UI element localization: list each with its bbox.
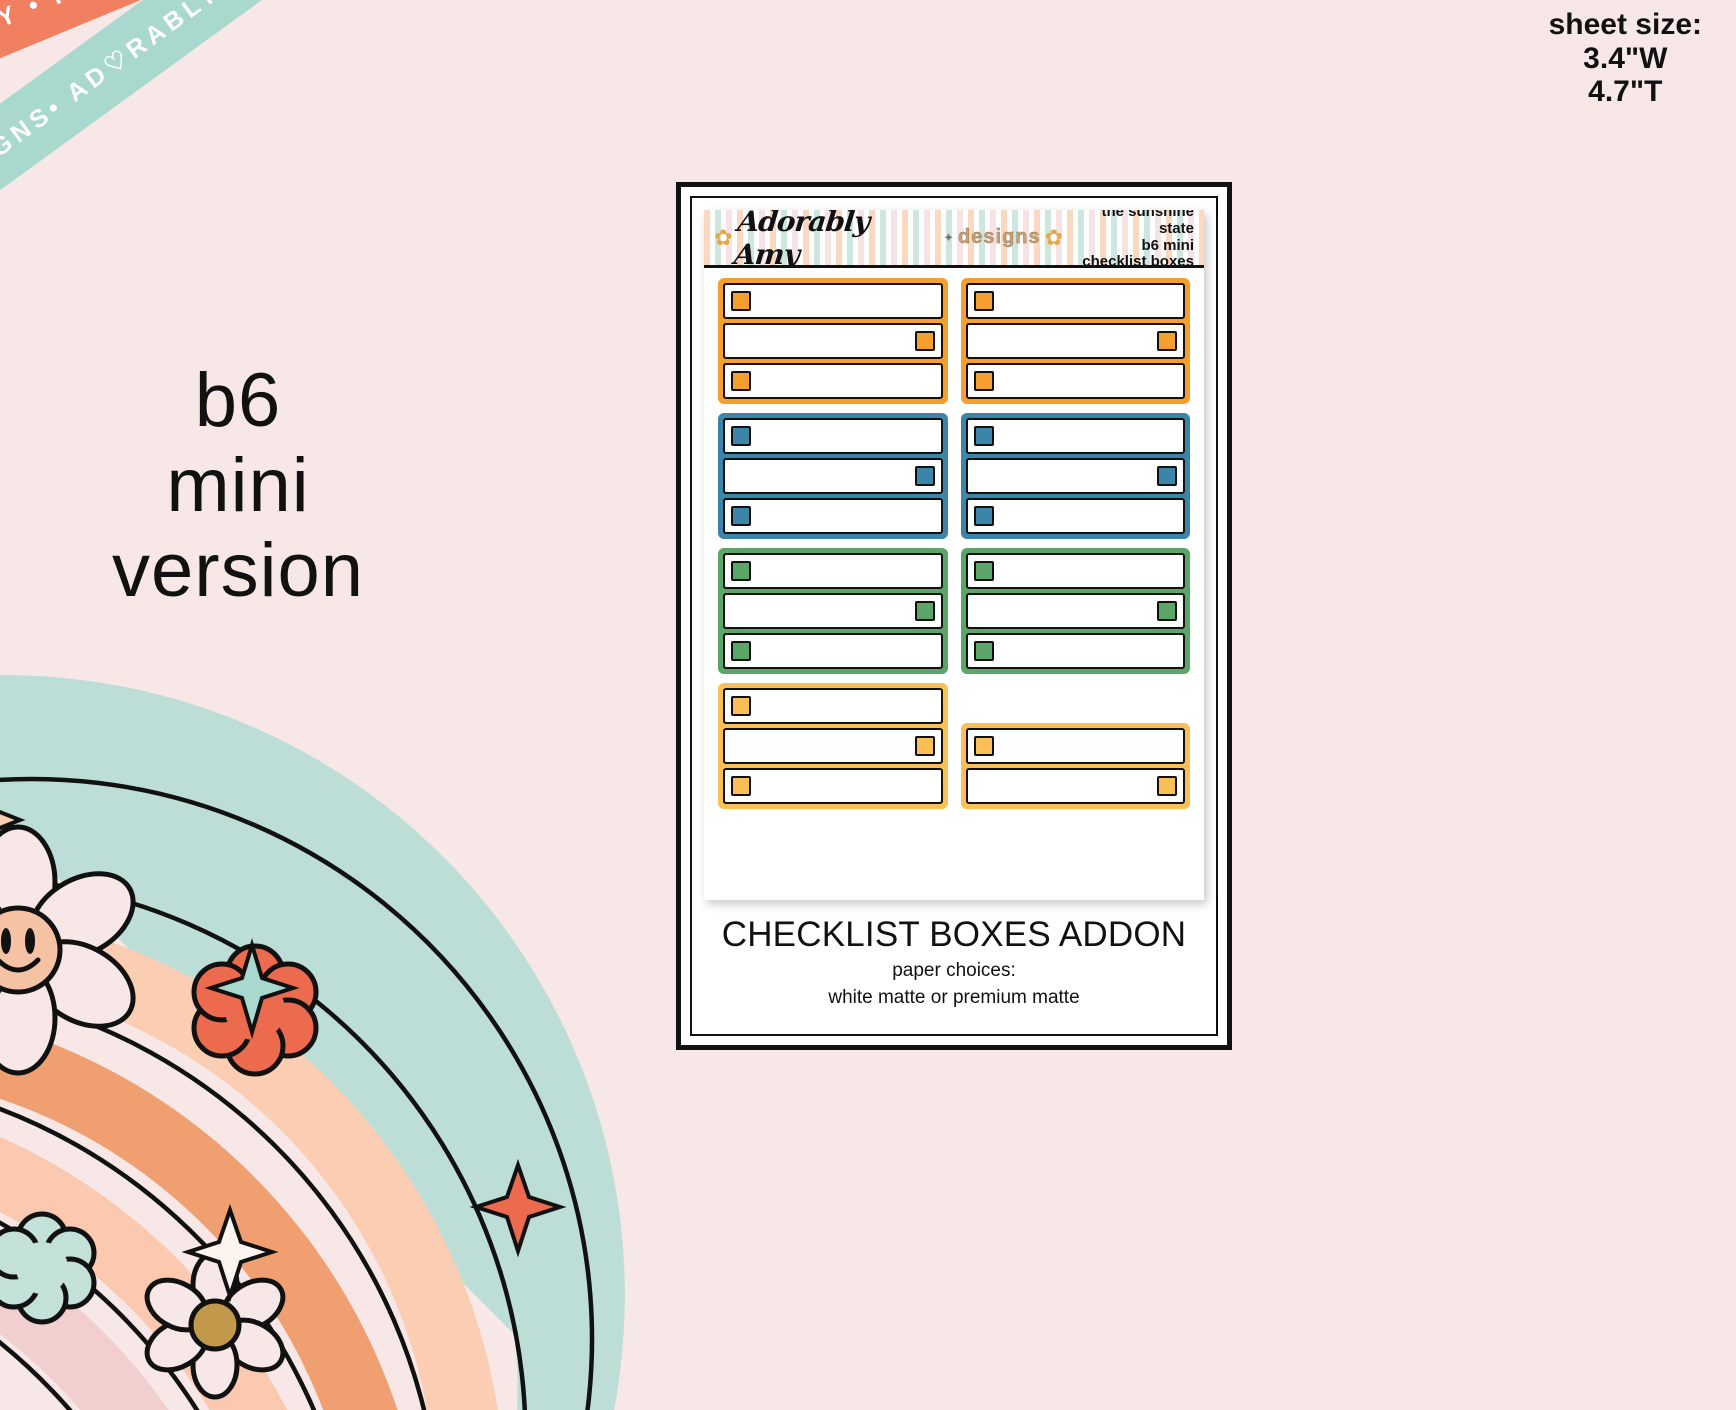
checkbox-icon[interactable] — [1157, 466, 1177, 486]
checklist-row[interactable] — [723, 633, 943, 669]
checklist-row[interactable] — [966, 633, 1186, 669]
sheet-size-width: 3.4"W — [1549, 42, 1702, 76]
caption-headline: CHECKLIST BOXES ADDON — [722, 916, 1187, 955]
checkbox-icon[interactable] — [731, 371, 751, 391]
sheet-title-line3: checklist boxes — [1063, 254, 1194, 268]
checklist-row[interactable] — [966, 283, 1186, 319]
checklist-sticker-blue-left[interactable] — [718, 413, 948, 539]
checklist-sticker-orange-right[interactable] — [961, 278, 1191, 404]
checkbox-icon[interactable] — [731, 776, 751, 796]
checkbox-icon[interactable] — [731, 291, 751, 311]
checklist-row[interactable] — [966, 458, 1186, 494]
checklist-row[interactable] — [966, 418, 1186, 454]
checklist-row[interactable] — [723, 593, 943, 629]
checklist-row[interactable] — [723, 768, 943, 804]
sticker-grid — [704, 268, 1204, 823]
checklist-row[interactable] — [723, 283, 943, 319]
checkbox-icon[interactable] — [974, 506, 994, 526]
checkbox-icon[interactable] — [915, 331, 935, 351]
mint-flower — [0, 1214, 94, 1322]
checkbox-icon[interactable] — [974, 641, 994, 661]
checkbox-icon[interactable] — [915, 601, 935, 621]
brand-designs-text: designs — [958, 226, 1041, 249]
checkbox-icon[interactable] — [915, 736, 935, 756]
checklist-row[interactable] — [723, 363, 943, 399]
product-frame: ✿ Adorably Amy ✦ designs ✿ the sunshine … — [676, 182, 1232, 1050]
ribbon-adorably-amy-designs: AD♡RABLY AMY DESIGNS• AD♡RABLY AMY DESIG… — [0, 0, 732, 393]
checkbox-icon[interactable] — [731, 426, 751, 446]
checklist-row[interactable] — [723, 418, 943, 454]
flower-icon-right: ✿ — [1045, 227, 1063, 249]
checklist-row[interactable] — [723, 498, 943, 534]
ribbon-teal-text: AD♡RABLY AMY DESIGNS• AD♡RABLY AMY DESIG… — [0, 0, 469, 371]
brand-script-text: Adorably Amy — [733, 210, 943, 268]
version-label: b6 mini version — [108, 358, 368, 613]
checklist-sticker-orange-left[interactable] — [718, 278, 948, 404]
caption-paper-choices-value: white matte or premium matte — [828, 986, 1079, 1010]
checklist-row[interactable] — [966, 323, 1186, 359]
rainbow-artwork — [0, 620, 670, 1410]
checklist-sticker-blue-right[interactable] — [961, 413, 1191, 539]
checklist-sticker-yellow-left[interactable] — [718, 683, 948, 809]
checklist-row[interactable] — [723, 323, 943, 359]
checkbox-icon[interactable] — [1157, 601, 1177, 621]
sparkle-icon: ✦ — [943, 230, 954, 246]
checklist-row[interactable] — [966, 593, 1186, 629]
sheet-title-line1: the sunshine state — [1063, 210, 1194, 238]
version-label-line1: b6 — [108, 358, 368, 443]
sheet-title-line2: b6 mini — [1063, 238, 1194, 255]
checklist-row[interactable] — [966, 498, 1186, 534]
checklist-sticker-green-right[interactable] — [961, 548, 1191, 674]
checkbox-icon[interactable] — [1157, 331, 1177, 351]
flower-icon-left: ✿ — [714, 227, 732, 249]
version-label-line3: version — [108, 528, 368, 613]
checkbox-icon[interactable] — [974, 736, 994, 756]
checklist-row[interactable] — [723, 458, 943, 494]
checklist-row[interactable] — [966, 768, 1186, 804]
version-label-line2: mini — [108, 443, 368, 528]
checklist-row[interactable] — [966, 728, 1186, 764]
checkbox-icon[interactable] — [974, 426, 994, 446]
checklist-sticker-yellow-right[interactable] — [961, 723, 1191, 809]
checklist-row[interactable] — [723, 728, 943, 764]
sheet-size-height: 4.7"T — [1549, 75, 1702, 109]
checkbox-icon[interactable] — [915, 466, 935, 486]
checkbox-icon[interactable] — [974, 371, 994, 391]
checklist-row[interactable] — [723, 553, 943, 589]
sheet-size-block: sheet size: 3.4"W 4.7"T — [1549, 8, 1702, 109]
checkbox-icon[interactable] — [731, 506, 751, 526]
caption-paper-choices-label: paper choices: — [892, 959, 1016, 983]
brand-logo: ✿ Adorably Amy ✦ designs ✿ — [714, 210, 1063, 268]
checkbox-icon[interactable] — [974, 561, 994, 581]
sticker-sheet-title: the sunshine state b6 mini checklist box… — [1063, 210, 1194, 268]
product-caption: CHECKLIST BOXES ADDON paper choices: whi… — [704, 900, 1204, 1034]
checklist-sticker-green-left[interactable] — [718, 548, 948, 674]
checkbox-icon[interactable] — [731, 561, 751, 581]
sheet-size-label: sheet size: — [1549, 8, 1702, 42]
product-inner-border: ✿ Adorably Amy ✦ designs ✿ the sunshine … — [690, 196, 1218, 1036]
checklist-row[interactable] — [966, 553, 1186, 589]
sticker-sheet-header: ✿ Adorably Amy ✦ designs ✿ the sunshine … — [704, 210, 1204, 268]
checkbox-icon[interactable] — [1157, 776, 1177, 796]
checkbox-icon[interactable] — [974, 291, 994, 311]
sticker-sheet: ✿ Adorably Amy ✦ designs ✿ the sunshine … — [704, 210, 1204, 900]
checklist-row[interactable] — [723, 688, 943, 724]
checklist-row[interactable] — [966, 363, 1186, 399]
checkbox-icon[interactable] — [731, 641, 751, 661]
checkbox-icon[interactable] — [731, 696, 751, 716]
